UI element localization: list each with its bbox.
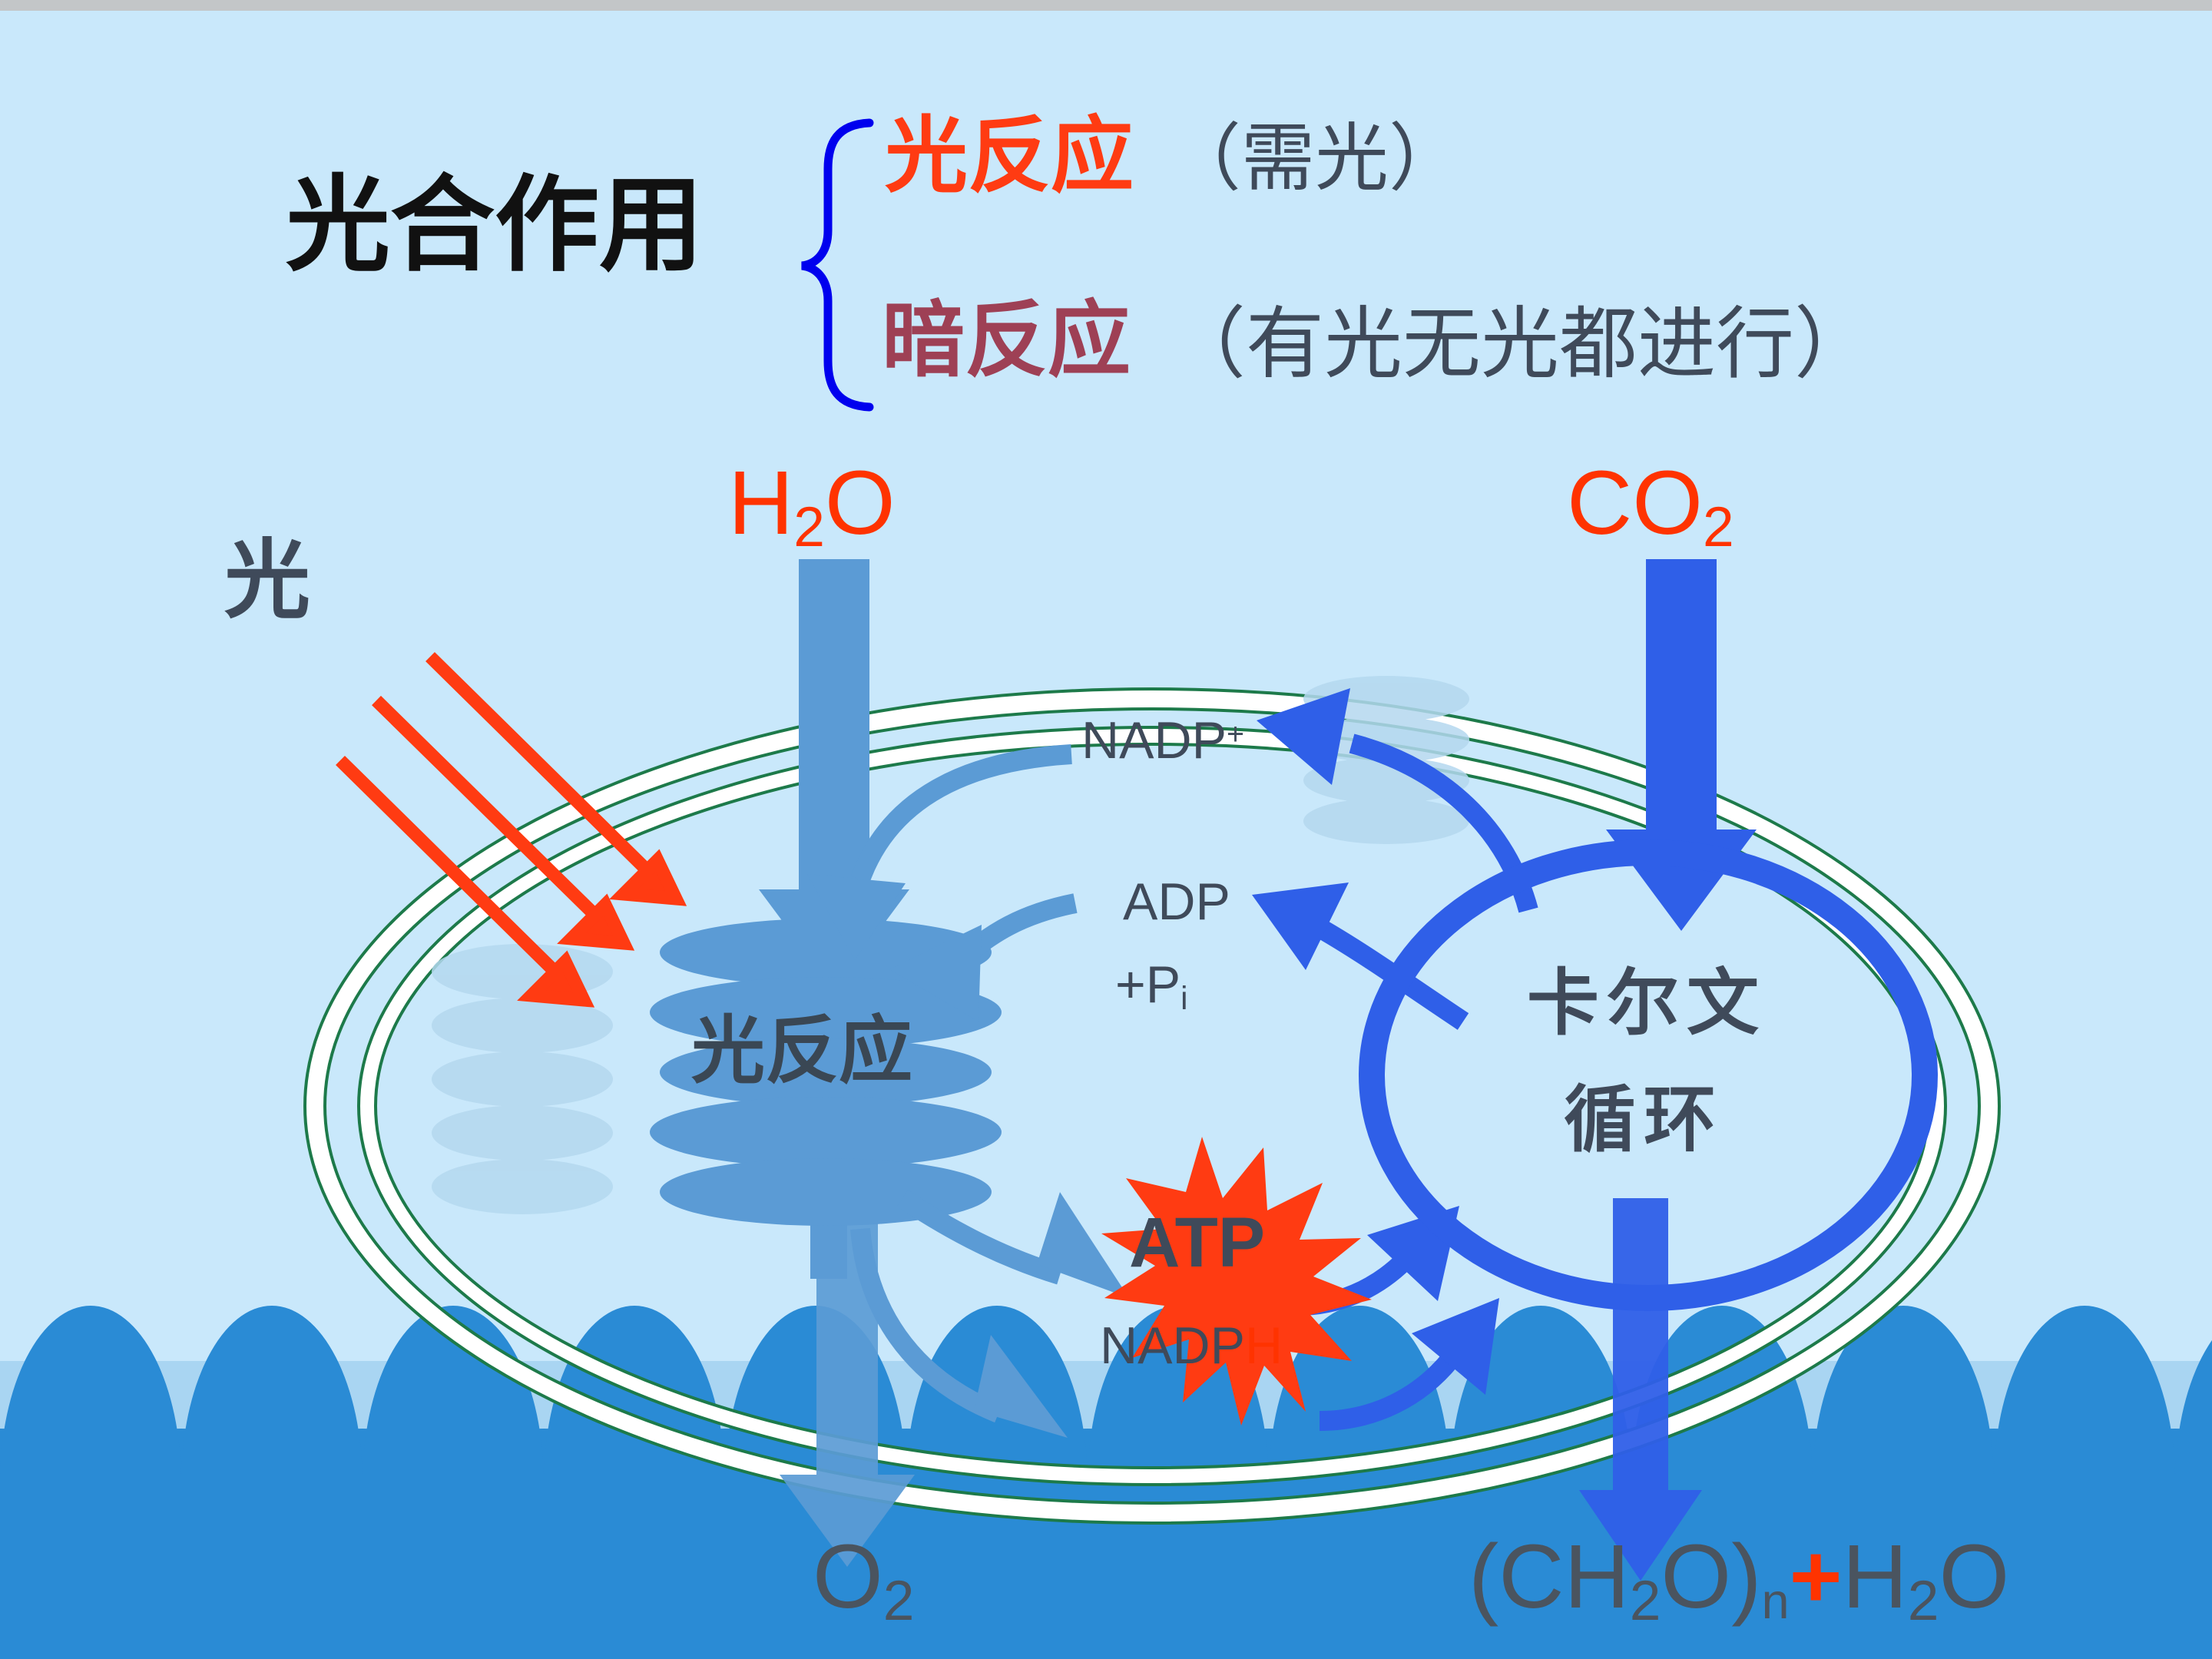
branch-light-reaction-label: 光反应 bbox=[885, 115, 1134, 198]
sugar-output-label: (CH2O)n+H2O bbox=[1469, 1532, 2009, 1622]
curly-brace-icon bbox=[802, 123, 869, 407]
h2o-input-label: H2O bbox=[728, 458, 896, 548]
branch-light-reaction-note: （需光） bbox=[1167, 121, 1462, 195]
calvin-cycle-label-line2: 循环 bbox=[1564, 1084, 1724, 1157]
pi-label: +Pi bbox=[1115, 959, 1187, 1011]
atp-label: ATP bbox=[1129, 1207, 1265, 1278]
light-source-label: 光 bbox=[224, 538, 310, 624]
branch-dark-reaction-label: 暗反应 bbox=[882, 300, 1131, 382]
co2-input-label: CO2 bbox=[1567, 458, 1734, 548]
page-title: 光合作用 bbox=[286, 174, 704, 278]
o2-output-label: O2 bbox=[813, 1532, 914, 1622]
nadp-plus-label: NADP+ bbox=[1081, 714, 1244, 767]
light-reaction-inner-label: 光反应 bbox=[691, 1014, 912, 1088]
branch-dark-reaction-note: （有光无光都进行） bbox=[1167, 306, 1873, 384]
calvin-cycle-label-line1: 卡尔文 bbox=[1527, 968, 1767, 1040]
slide-canvas: 光合作用 光反应 （需光） 暗反应 （有光无光都进行） H2O CO2 光 NA… bbox=[0, 0, 2212, 1659]
adp-label: ADP bbox=[1123, 876, 1230, 928]
nadph-label: NADPH bbox=[1100, 1320, 1283, 1372]
